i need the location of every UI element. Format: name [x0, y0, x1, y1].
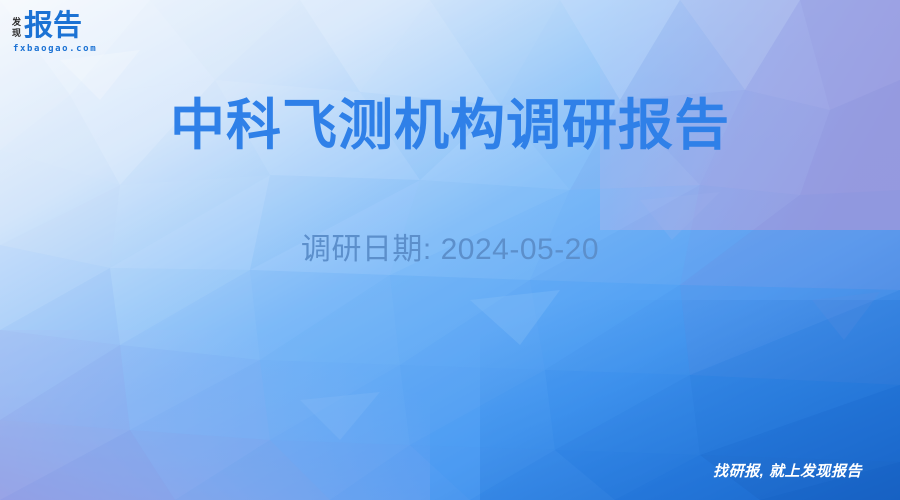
- low-poly-background: [0, 0, 900, 500]
- logo-wordmark-row: 发 现 报告: [12, 12, 82, 41]
- footer-slogan: 找研报, 就上发现报告: [713, 462, 862, 482]
- logo-mark-top: 发: [12, 17, 21, 28]
- logo-mark-characters: 发 现: [12, 17, 21, 41]
- logo-url: fxbaogao.com: [13, 44, 97, 54]
- logo-mark-bottom: 现: [12, 28, 21, 39]
- brand-logo[interactable]: 发 现 报告 fxbaogao.com: [12, 12, 97, 54]
- logo-wordmark: 报告: [24, 12, 82, 41]
- report-cover-slide: 发 现 报告 fxbaogao.com 中科飞测机构调研报告 调研日期: 202…: [0, 0, 900, 500]
